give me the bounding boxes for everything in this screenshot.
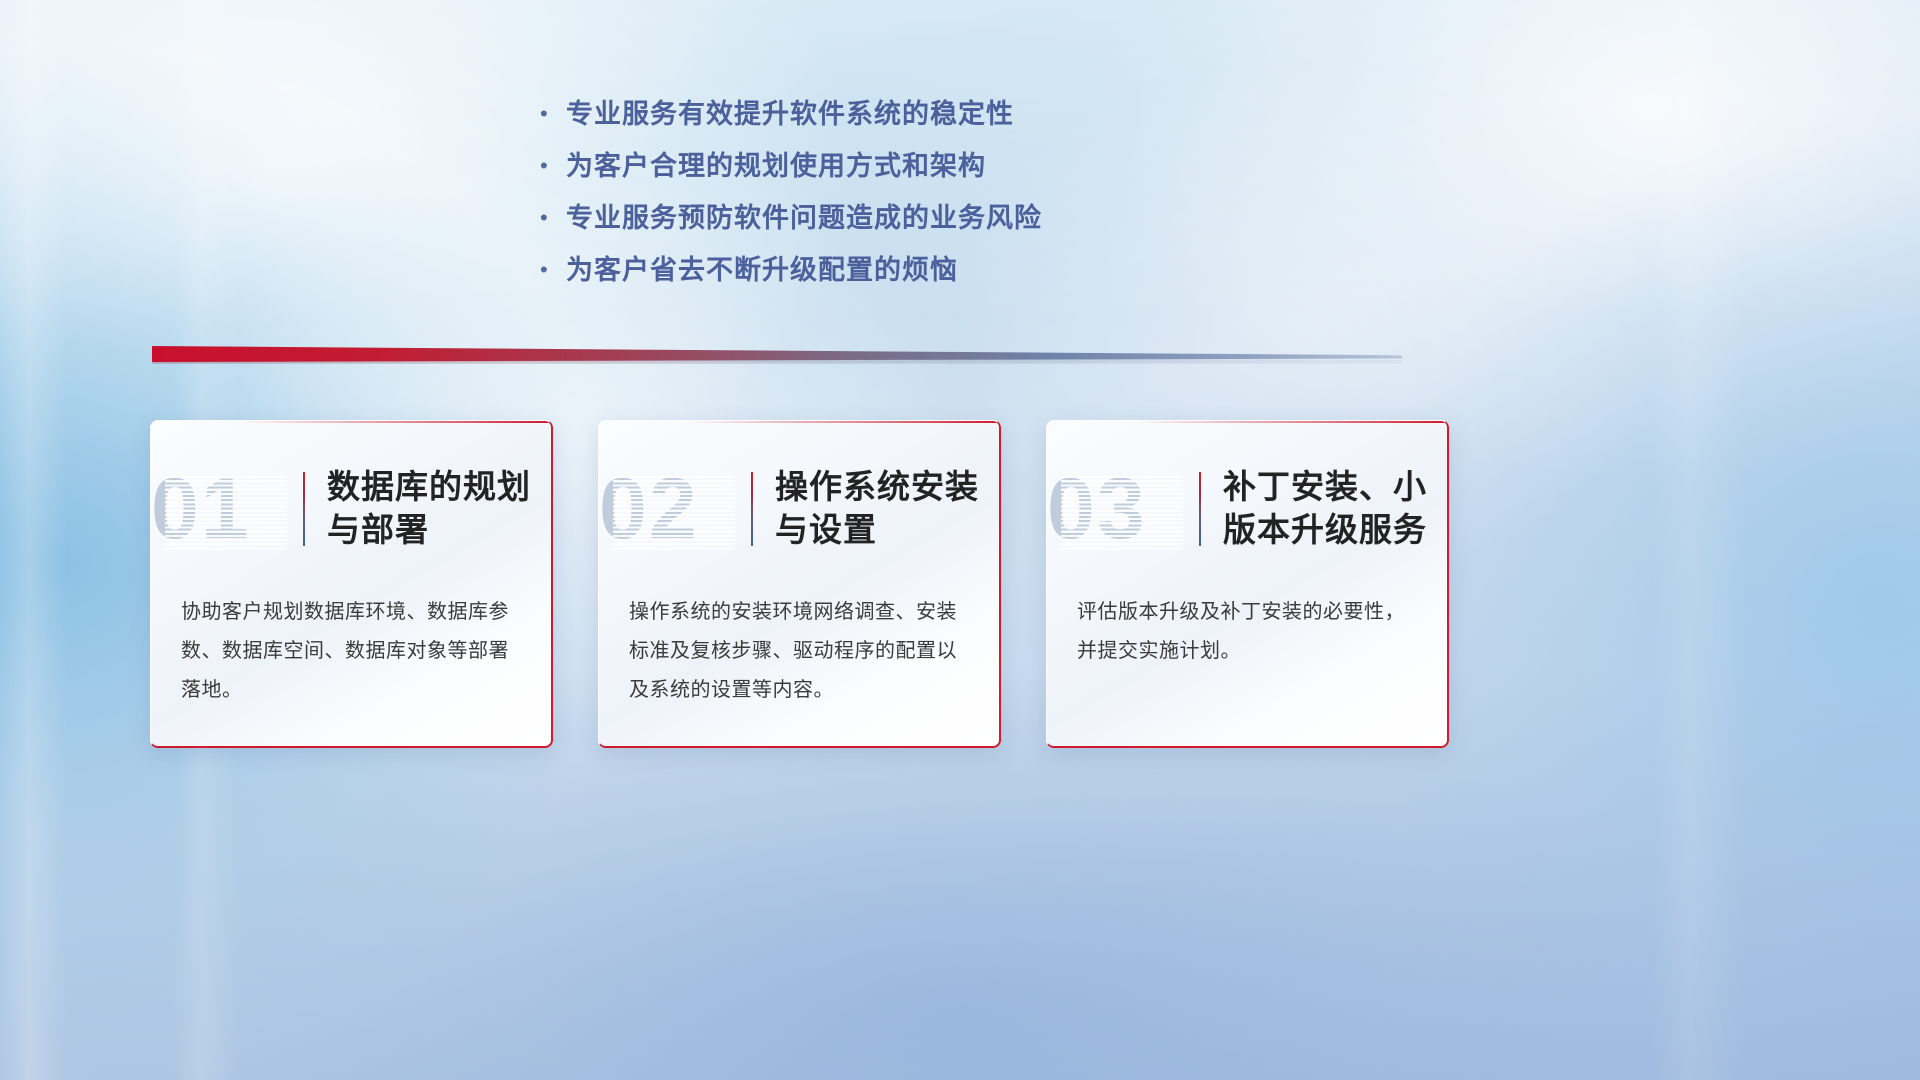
card-number-wrap: 01 xyxy=(151,466,301,552)
slide-canvas: • 专业服务有效提升软件系统的稳定性 • 为客户合理的规划使用方式和架构 • 专… xyxy=(0,0,1920,1080)
bullet-dot-icon: • xyxy=(540,259,566,281)
bullet-dot-icon: • xyxy=(540,103,566,125)
card-title-rule xyxy=(751,472,753,546)
benefits-bullet-list: • 专业服务有效提升软件系统的稳定性 • 为客户合理的规划使用方式和架构 • 专… xyxy=(540,92,1440,300)
card-number-wrap: 03 xyxy=(1047,466,1197,552)
card-title-rule xyxy=(303,472,305,546)
list-item: • 专业服务有效提升软件系统的稳定性 xyxy=(540,92,1440,144)
card-title: 补丁安装、小 版本升级服务 xyxy=(1223,466,1427,552)
service-card[interactable]: 01 数据库的规划 与部署 协助客户规划数据库环境、数据库参数、数据库空间、数据… xyxy=(150,420,553,748)
card-number-watermark: 02 xyxy=(599,461,699,557)
list-item: • 为客户合理的规划使用方式和架构 xyxy=(540,144,1440,196)
card-header: 03 补丁安装、小 版本升级服务 xyxy=(1047,421,1447,579)
card-body-text: 协助客户规划数据库环境、数据库参数、数据库空间、数据库对象等部署落地。 xyxy=(151,579,551,710)
card-title-rule xyxy=(1199,472,1201,546)
list-item: • 为客户省去不断升级配置的烦恼 xyxy=(540,248,1440,300)
service-card[interactable]: 02 操作系统安装 与设置 操作系统的安装环境网络调查、安装标准及复核步骤、驱动… xyxy=(598,420,1001,748)
bullet-dot-icon: • xyxy=(540,207,566,229)
bullet-text: 专业服务有效提升软件系统的稳定性 xyxy=(566,92,1014,131)
card-title: 操作系统安装 与设置 xyxy=(775,466,979,552)
bullet-dot-icon: • xyxy=(540,155,566,177)
card-number-watermark: 03 xyxy=(1047,461,1147,557)
bullet-text: 为客户合理的规划使用方式和架构 xyxy=(566,144,986,183)
card-number-wrap: 02 xyxy=(599,466,749,552)
service-card[interactable]: 03 补丁安装、小 版本升级服务 评估版本升级及补丁安装的必要性，并提交实施计划… xyxy=(1046,420,1449,748)
bullet-text: 专业服务预防软件问题造成的业务风险 xyxy=(566,196,1042,235)
card-title: 数据库的规划 与部署 xyxy=(327,466,531,552)
service-card-row: 01 数据库的规划 与部署 协助客户规划数据库环境、数据库参数、数据库空间、数据… xyxy=(150,420,1770,750)
card-body-text: 操作系统的安装环境网络调查、安装标准及复核步骤、驱动程序的配置以及系统的设置等内… xyxy=(599,579,999,710)
card-number-watermark: 01 xyxy=(151,461,251,557)
card-body-text: 评估版本升级及补丁安装的必要性，并提交实施计划。 xyxy=(1047,579,1447,671)
section-divider xyxy=(152,346,1402,362)
card-header: 01 数据库的规划 与部署 xyxy=(151,421,551,579)
list-item: • 专业服务预防软件问题造成的业务风险 xyxy=(540,196,1440,248)
bullet-text: 为客户省去不断升级配置的烦恼 xyxy=(566,248,958,287)
card-header: 02 操作系统安装 与设置 xyxy=(599,421,999,579)
